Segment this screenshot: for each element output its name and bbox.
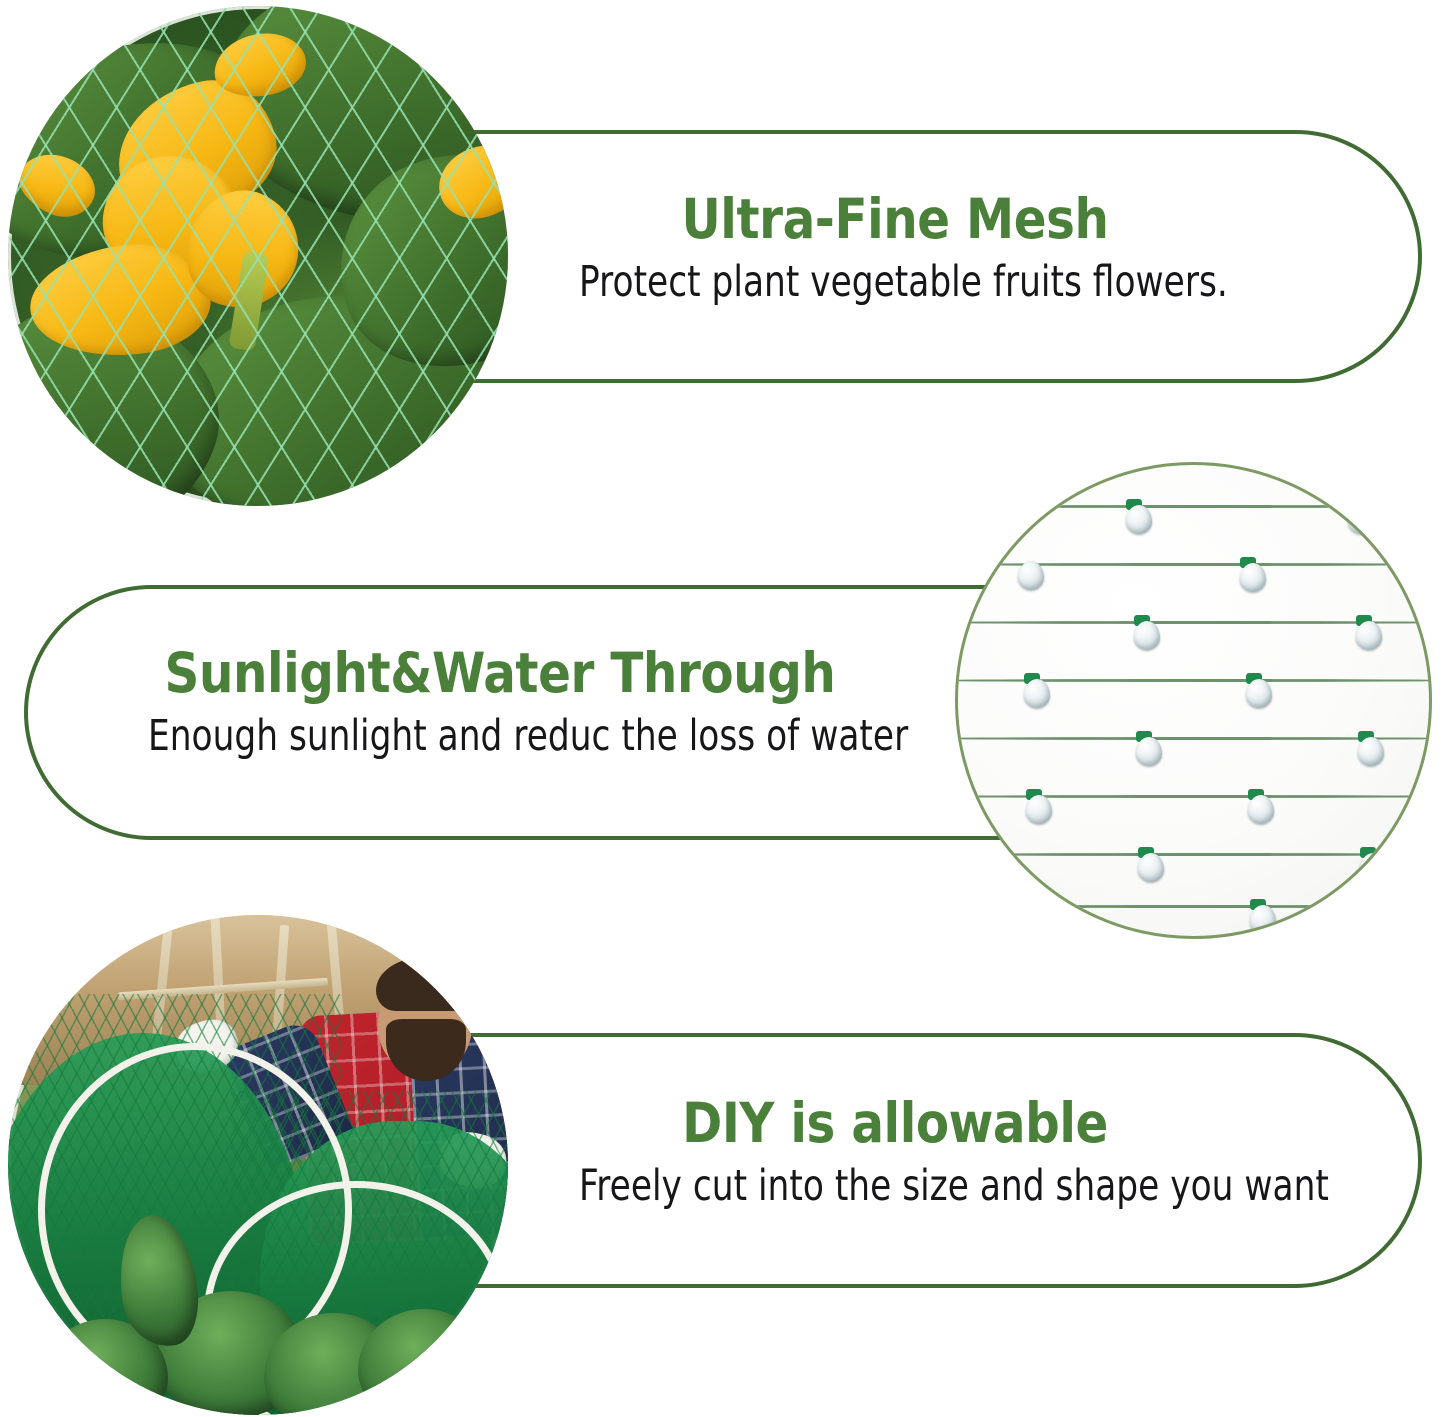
feature-subtitle-3: Freely cut into the size and shape you w… (579, 1165, 1211, 1208)
feature-text-block-2: Sunlight&Water Through Enough sunlight a… (60, 646, 940, 758)
water-droplet (1136, 737, 1162, 766)
water-droplet (1246, 679, 1272, 708)
water-droplet (1126, 505, 1152, 534)
water-droplet (1134, 621, 1160, 650)
water-droplet (1356, 621, 1382, 650)
feature-subtitle-2: Enough sunlight and reduc the loss of wa… (148, 715, 852, 758)
water-droplet (1250, 905, 1276, 934)
water-droplet (1358, 737, 1384, 766)
feature-text-block-3: DIY is allowable Freely cut into the siz… (500, 1096, 1290, 1208)
water-droplet (1240, 563, 1266, 592)
water-droplet (1018, 561, 1044, 590)
feature-title-1: Ultra-Fine Mesh (547, 192, 1242, 247)
water-droplet (1348, 505, 1374, 534)
feature-image-mesh-with-water-droplets (955, 462, 1432, 939)
product-feature-infographic: Ultra-Fine Mesh Protect plant vegetable … (0, 0, 1445, 1417)
water-droplet (1138, 853, 1164, 882)
water-droplet (1248, 795, 1274, 824)
feature-subtitle-1: Protect plant vegetable fruits flowers. (579, 261, 1211, 304)
water-droplet (1026, 795, 1052, 824)
feature-title-2: Sunlight&Water Through (113, 646, 887, 701)
water-droplet (1024, 679, 1050, 708)
mesh-strand (955, 905, 1432, 908)
feature-image-squash-flowers-under-green-netting (8, 6, 508, 506)
water-droplet (1360, 853, 1386, 882)
feature-image-gardener-installing-net-over-cabbages (8, 915, 508, 1415)
feature-text-block-1: Ultra-Fine Mesh Protect plant vegetable … (500, 192, 1290, 304)
feature-title-3: DIY is allowable (547, 1096, 1242, 1151)
